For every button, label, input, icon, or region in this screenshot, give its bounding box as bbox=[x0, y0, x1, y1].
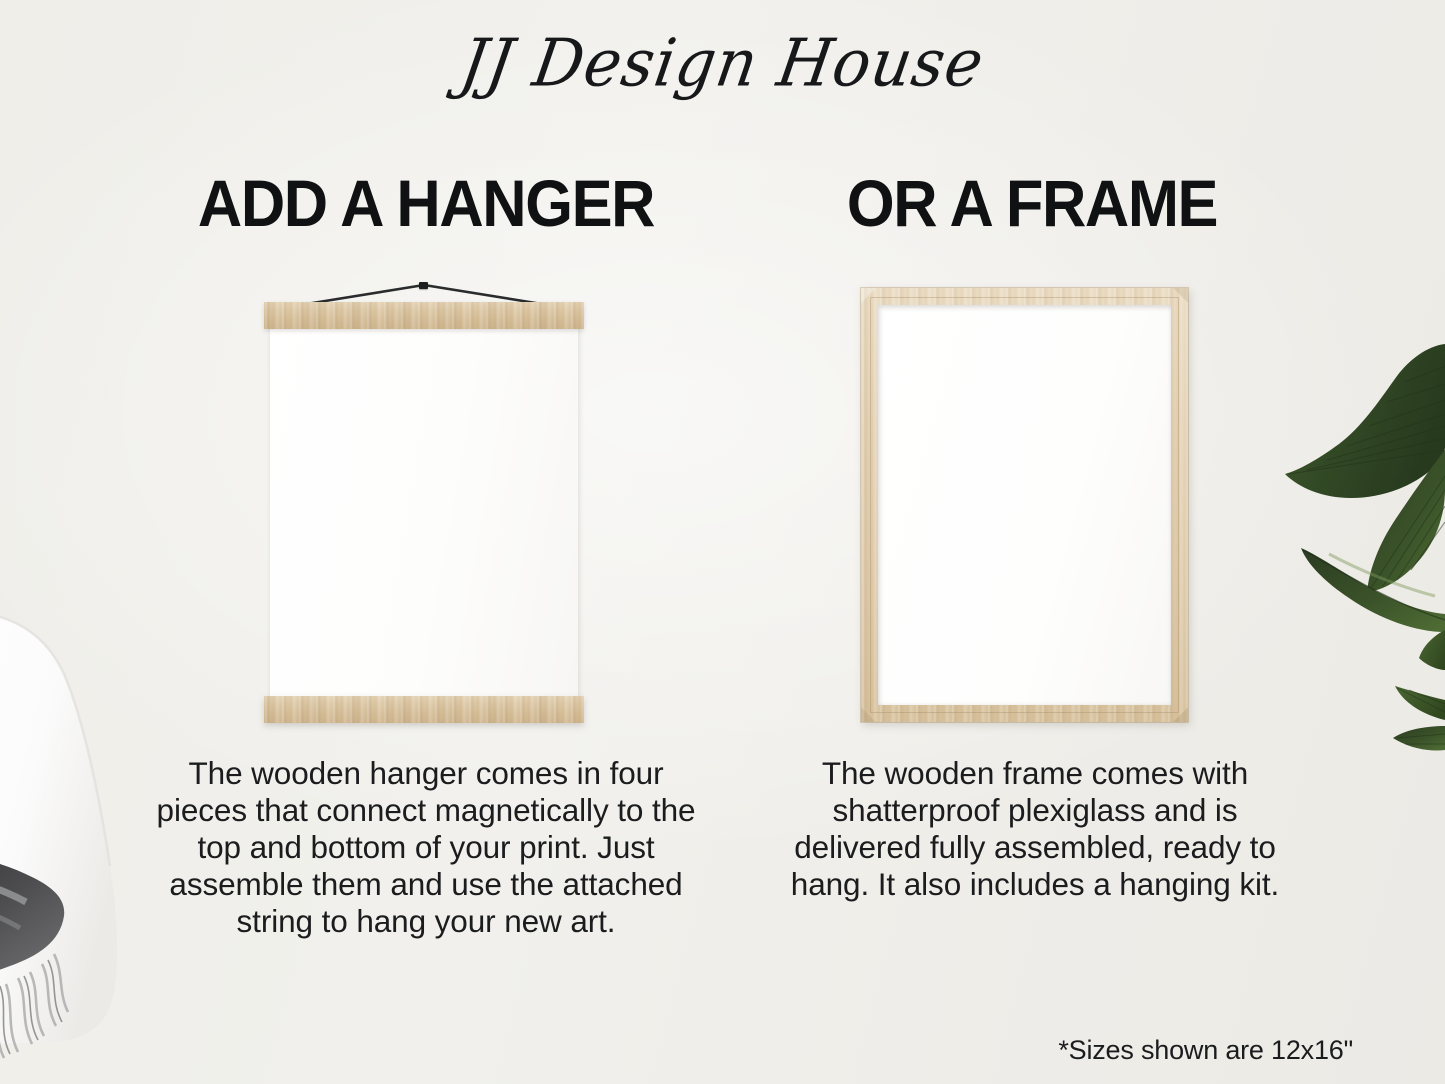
size-footnote: *Sizes shown are 12x16" bbox=[1058, 1035, 1353, 1066]
product-info-graphic: JJ Design House ADD A HANGER OR A FRAME … bbox=[0, 0, 1445, 1084]
palm-plant-decor bbox=[1277, 330, 1445, 890]
frame-print-area bbox=[878, 305, 1171, 705]
hanger-bottom-bar bbox=[264, 696, 584, 723]
frame-mockup bbox=[861, 288, 1188, 722]
heading-or-a-frame: OR A FRAME bbox=[807, 170, 1257, 236]
brand-logo: JJ Design House bbox=[0, 24, 1445, 101]
hanger-print-area bbox=[270, 306, 578, 718]
hanger-nail-icon bbox=[419, 282, 428, 289]
hanger-mockup bbox=[264, 278, 584, 723]
hanger-top-bar bbox=[264, 302, 584, 329]
heading-add-a-hanger: ADD A HANGER bbox=[158, 170, 694, 236]
description-hanger: The wooden hanger comes in four pieces t… bbox=[150, 755, 702, 940]
description-frame: The wooden frame comes with shatterproof… bbox=[775, 755, 1295, 903]
